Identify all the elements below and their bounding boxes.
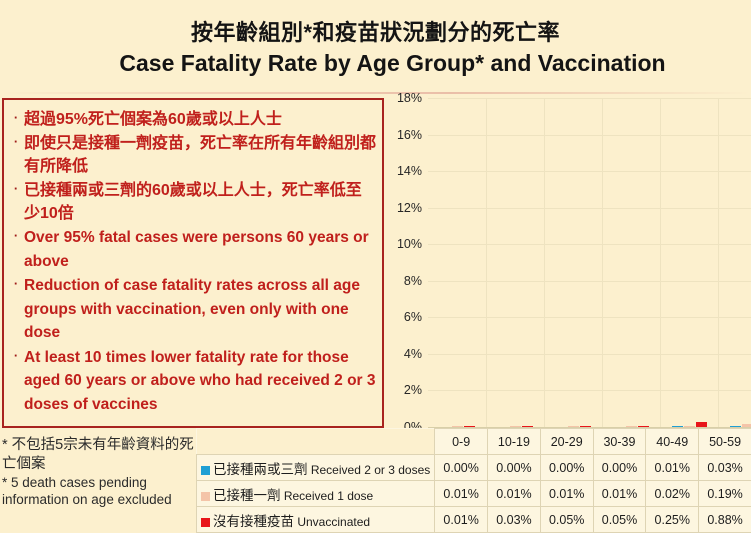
y-axis-tick-label: 14% [397,164,422,178]
footnote-chinese: * 不包括5宗未有年齡資料的死亡個案 [2,436,198,474]
x-axis-category-header: 30-39 [593,429,646,455]
table-row: 已接種一劑 Received 1 dose0.01%0.01%0.01%0.01… [197,481,751,507]
key-finding-item: ·Over 95% fatal cases were persons 60 ye… [8,226,376,273]
table-body: 已接種兩或三劑 Received 2 or 3 doses0.00%0.00%0… [197,455,751,533]
table-cell-value: 0.25% [646,507,699,533]
table-cell-value: 0.03% [488,507,541,533]
bar [638,426,649,427]
key-finding-item: ·At least 10 times lower fatality rate f… [8,346,376,417]
bar-group [428,98,486,427]
key-finding-text: At least 10 times lower fatality rate fo… [24,346,376,417]
bar [696,422,707,427]
key-finding-text: Reduction of case fatality rates across … [24,274,376,345]
table-cell-value: 0.00% [488,455,541,481]
bar [464,426,475,427]
legend-swatch-icon [201,518,210,527]
bar [730,426,741,427]
table-cell-value: 0.01% [540,481,593,507]
legend-swatch-icon [201,466,210,475]
key-findings-box: ·超過95%死亡個案為60歲或以上人士·即使只是接種一劑疫苗，死亡率在所有年齡組… [2,98,384,428]
page-title-chinese: 按年齡組別*和疫苗狀況劃分的死亡率 [0,18,751,48]
key-finding-text: Over 95% fatal cases were persons 60 yea… [24,226,376,273]
bar-group [486,98,544,427]
case-fatality-bar-chart: 18%16%14%12%10%8%6%4%2%0% [384,98,751,428]
table-cell-value: 0.01% [488,481,541,507]
x-axis-category-header: 20-29 [540,429,593,455]
table-row: 已接種兩或三劑 Received 2 or 3 doses0.00%0.00%0… [197,455,751,481]
page-title-english: Case Fatality Rate by Age Group* and Vac… [34,48,751,78]
bar [684,426,695,427]
table-cell-value: 0.02% [646,481,699,507]
table-cell-value: 0.03% [699,455,751,481]
legend-label-chinese: 已接種一劑 [213,488,281,503]
y-axis-tick-label: 4% [404,347,422,361]
bullet-dot-icon: · [8,108,24,128]
key-finding-text: 即使只是接種一劑疫苗，死亡率在所有年齡組別都有所降低 [24,132,376,178]
key-finding-text: 超過95%死亡個案為60歲或以上人士 [24,108,376,131]
x-axis-category-header: 40-49 [646,429,699,455]
key-finding-item: ·超過95%死亡個案為60歲或以上人士 [8,108,376,131]
x-axis-category-header: 0-9 [435,429,488,455]
legend-label-chinese: 已接種兩或三劑 [213,462,308,477]
bar [626,426,637,427]
table-cell-value: 0.00% [540,455,593,481]
table-cell-value: 0.01% [435,507,488,533]
x-axis-category-header: 10-19 [488,429,541,455]
bar [580,426,591,427]
key-finding-text: 已接種兩或三劑的60歲或以上人士，死亡率低至少10倍 [24,179,376,225]
plot-area [428,98,751,428]
legend-item[interactable]: 已接種一劑 Received 1 dose [197,481,435,507]
bullet-dot-icon: · [8,132,24,152]
bar [742,424,751,427]
table-corner-cell [197,429,435,455]
legend-item[interactable]: 沒有接種疫苗 Unvaccinated [197,507,435,533]
key-findings-list: ·超過95%死亡個案為60歲或以上人士·即使只是接種一劑疫苗，死亡率在所有年齡組… [4,100,382,416]
y-axis-tick-label: 6% [404,310,422,324]
y-axis-tick-label: 8% [404,274,422,288]
key-finding-item: ·Reduction of case fatality rates across… [8,274,376,345]
y-axis-tick-label: 2% [404,383,422,397]
bar [672,426,683,427]
bar-group [602,98,660,427]
table-row: 沒有接種疫苗 Unvaccinated0.01%0.03%0.05%0.05%0… [197,507,751,533]
bullet-dot-icon: · [8,346,24,366]
table-header-row: 0-910-1920-2930-3940-4950-59 [197,429,751,455]
legend-swatch-icon [201,492,210,501]
y-axis-tick-label: 16% [397,128,422,142]
page-title: 按年齡組別*和疫苗狀況劃分的死亡率 Case Fatality Rate by … [0,18,751,78]
y-axis-tick-label: 12% [397,201,422,215]
bar [522,426,533,427]
table-cell-value: 0.05% [593,507,646,533]
table-cell-value: 0.19% [699,481,751,507]
table-cell-value: 0.00% [435,455,488,481]
bullet-dot-icon: · [8,274,24,294]
bar [568,426,579,427]
legend-label-english: Received 2 or 3 doses [308,463,431,477]
table-cell-value: 0.00% [593,455,646,481]
bar-group [544,98,602,427]
key-finding-item: ·即使只是接種一劑疫苗，死亡率在所有年齡組別都有所降低 [8,132,376,178]
y-axis: 18%16%14%12%10%8%6%4%2%0% [384,98,426,428]
table-cell-value: 0.88% [699,507,751,533]
legend-label-chinese: 沒有接種疫苗 [213,514,294,529]
bullet-dot-icon: · [8,226,24,246]
legend-item[interactable]: 已接種兩或三劑 Received 2 or 3 doses [197,455,435,481]
key-finding-item: ·已接種兩或三劑的60歲或以上人士，死亡率低至少10倍 [8,179,376,225]
y-axis-tick-label: 10% [397,237,422,251]
data-table: 0-910-1920-2930-3940-4950-59 已接種兩或三劑 Rec… [196,428,751,533]
title-divider [0,92,751,94]
table-cell-value: 0.01% [593,481,646,507]
footnote-english: * 5 death cases pending information on a… [2,474,198,508]
bullet-dot-icon: · [8,179,24,199]
bar [510,426,521,427]
x-axis-category-header: 50-59 [699,429,751,455]
bar-group [718,98,751,427]
footnote: * 不包括5宗未有年齡資料的死亡個案 * 5 death cases pendi… [2,436,198,508]
legend-label-english: Received 1 dose [281,489,374,503]
bar [452,426,463,427]
table-cell-value: 0.01% [646,455,699,481]
bar-group [660,98,718,427]
table-cell-value: 0.05% [540,507,593,533]
y-axis-tick-label: 18% [397,91,422,105]
table-cell-value: 0.01% [435,481,488,507]
